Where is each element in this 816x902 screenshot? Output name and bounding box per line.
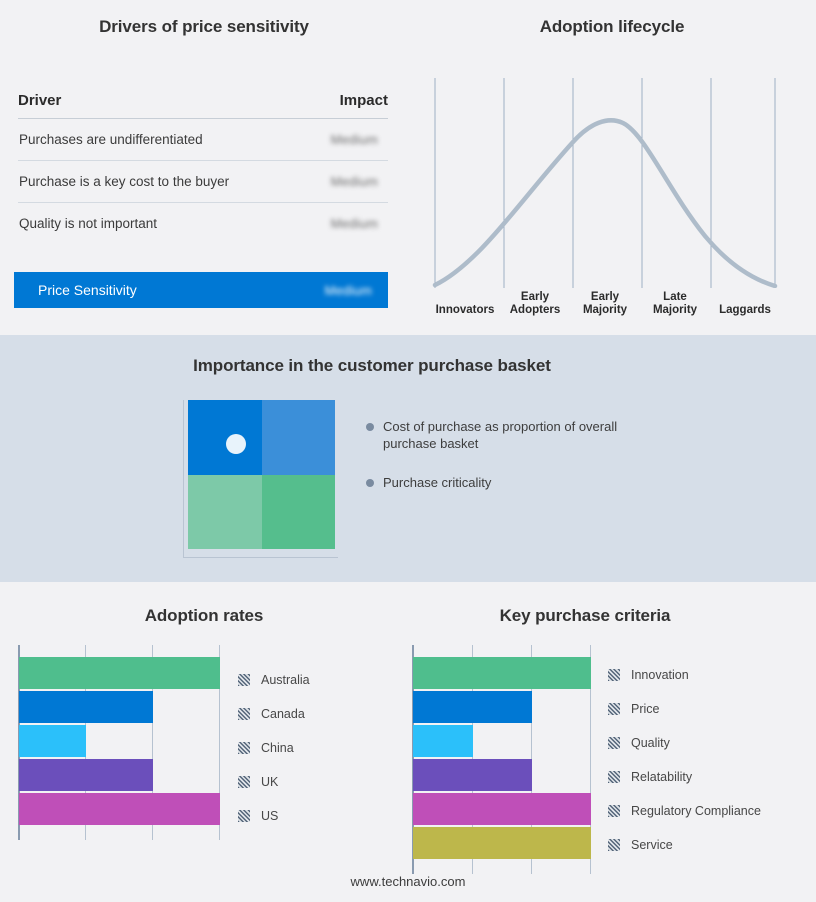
matrix-y-axis [183, 400, 184, 558]
bar-innovation [413, 657, 591, 689]
legend-swatch-icon [608, 805, 620, 817]
impact-value: Medium [331, 132, 388, 147]
bar-row [413, 691, 592, 723]
adoption-section-title: Adoption lifecycle [408, 17, 816, 37]
legend-swatch-icon [608, 771, 620, 783]
bar-relatability [413, 759, 532, 791]
adoption-lifecycle-chart [430, 78, 780, 288]
drivers-table: Driver Impact Purchases are undifferenti… [18, 92, 388, 244]
criteria-plot [412, 645, 592, 874]
bar-row [19, 657, 221, 689]
legend-item-canada: Canada [238, 698, 310, 730]
key-purchase-criteria-title: Key purchase criteria [400, 606, 770, 626]
footer-url: www.technavio.com [0, 874, 816, 889]
legend-label: Innovation [631, 668, 689, 682]
table-row: Quality is not important Medium [18, 203, 388, 244]
key-purchase-criteria-chart [412, 645, 592, 874]
legend-label: Australia [261, 673, 310, 687]
bullet-icon [366, 479, 374, 487]
bar-china [19, 725, 86, 757]
lifecycle-label-early-adopters: Early Adopters [500, 282, 570, 318]
matrix-position-marker [226, 434, 246, 454]
bar-canada [19, 691, 153, 723]
lifecycle-label-late-majority: Late Majority [640, 282, 710, 318]
legend-item-us: US [238, 800, 310, 832]
label-line: Majority [653, 304, 697, 317]
column-header-driver: Driver [18, 92, 61, 109]
legend-swatch-icon [608, 669, 620, 681]
bar-price [413, 691, 532, 723]
basket-legend: Cost of purchase as proportion of overal… [366, 418, 656, 513]
legend-item-uk: UK [238, 766, 310, 798]
table-row: Purchases are undifferentiated Medium [18, 119, 388, 161]
quadrant-top-left [188, 400, 262, 475]
legend-label: Price [631, 702, 659, 716]
legend-label: Regulatory Compliance [631, 804, 761, 818]
label-line: Late [663, 291, 687, 304]
adoption-rates-plot [18, 645, 221, 840]
bar-row [19, 691, 221, 723]
drivers-section-title: Drivers of price sensitivity [0, 17, 408, 37]
impact-value: Medium [331, 174, 388, 189]
bar-row [19, 725, 221, 757]
bar-row [413, 725, 592, 757]
bar-row [413, 827, 592, 859]
lifecycle-label-early-majority: Early Majority [570, 282, 640, 318]
legend-label: US [261, 809, 278, 823]
label-line: Majority [583, 304, 627, 317]
legend-item-relatability: Relatability [608, 761, 761, 793]
legend-label: Relatability [631, 770, 692, 784]
legend-item-service: Service [608, 829, 761, 861]
driver-name: Purchases are undifferentiated [18, 132, 203, 147]
legend-label: China [261, 741, 294, 755]
basket-legend-item: Cost of purchase as proportion of overal… [366, 418, 656, 452]
bar-quality [413, 725, 473, 757]
legend-swatch-icon [608, 737, 620, 749]
column-header-impact: Impact [340, 92, 388, 109]
label-line: Early [521, 291, 549, 304]
label-line: Early [591, 291, 619, 304]
lifecycle-svg [430, 78, 780, 288]
legend-swatch-icon [608, 703, 620, 715]
legend-swatch-icon [238, 708, 250, 720]
legend-label: Quality [631, 736, 670, 750]
legend-swatch-icon [238, 674, 250, 686]
table-header-row: Driver Impact [18, 92, 388, 119]
bar-regulatory-compliance [413, 793, 591, 825]
table-row: Purchase is a key cost to the buyer Medi… [18, 161, 388, 203]
label-line: Laggards [719, 304, 771, 317]
legend-label: Canada [261, 707, 305, 721]
bar-row [413, 759, 592, 791]
matrix-x-axis [183, 557, 338, 558]
bullet-icon [366, 423, 374, 431]
adoption-rates-chart [18, 645, 221, 840]
bar-australia [19, 657, 220, 689]
bar-service [413, 827, 591, 859]
bar-row [413, 793, 592, 825]
infographic-page: Drivers of price sensitivity Adoption li… [0, 0, 816, 902]
legend-item-regulatory-compliance: Regulatory Compliance [608, 795, 761, 827]
quadrant-bottom-left [188, 475, 262, 550]
basket-legend-label: Cost of purchase as proportion of overal… [383, 418, 656, 452]
driver-name: Quality is not important [18, 216, 157, 231]
summary-impact-value: Medium [325, 283, 382, 298]
bar-us [19, 793, 220, 825]
legend-item-australia: Australia [238, 664, 310, 696]
impact-value: Medium [331, 216, 388, 231]
price-sensitivity-summary-row: Price Sensitivity Medium [14, 272, 388, 308]
matrix-quadrants [188, 400, 335, 549]
purchase-basket-matrix [183, 400, 335, 558]
legend-item-innovation: Innovation [608, 659, 761, 691]
adoption-rates-title: Adoption rates [0, 606, 408, 626]
legend-item-price: Price [608, 693, 761, 725]
adoption-rates-legend: Australia Canada China UK US [238, 664, 310, 834]
legend-label: Service [631, 838, 673, 852]
legend-item-china: China [238, 732, 310, 764]
lifecycle-label-innovators: Innovators [430, 282, 500, 318]
legend-item-quality: Quality [608, 727, 761, 759]
legend-swatch-icon [238, 776, 250, 788]
lifecycle-label-laggards: Laggards [710, 282, 780, 318]
bar-row [19, 793, 221, 825]
basket-legend-label: Purchase criticality [383, 474, 491, 491]
criteria-bars [413, 657, 592, 861]
quadrant-bottom-right [262, 475, 336, 550]
key-purchase-criteria-legend: Innovation Price Quality Relatability Re… [608, 659, 761, 863]
bar-row [19, 759, 221, 791]
label-line: Adopters [510, 304, 560, 317]
legend-label: UK [261, 775, 278, 789]
bar-row [413, 657, 592, 689]
summary-label: Price Sensitivity [38, 282, 137, 298]
legend-swatch-icon [238, 742, 250, 754]
basket-section-title: Importance in the customer purchase bask… [0, 356, 744, 376]
quadrant-top-right [262, 400, 336, 475]
lifecycle-category-labels: Innovators Early Adopters Early Majority… [430, 282, 780, 318]
bar-uk [19, 759, 153, 791]
driver-name: Purchase is a key cost to the buyer [18, 174, 229, 189]
basket-legend-item: Purchase criticality [366, 474, 656, 491]
label-line: Innovators [436, 304, 495, 317]
lifecycle-curve [435, 120, 775, 286]
rates-bars [19, 657, 221, 827]
legend-swatch-icon [608, 839, 620, 851]
legend-swatch-icon [238, 810, 250, 822]
